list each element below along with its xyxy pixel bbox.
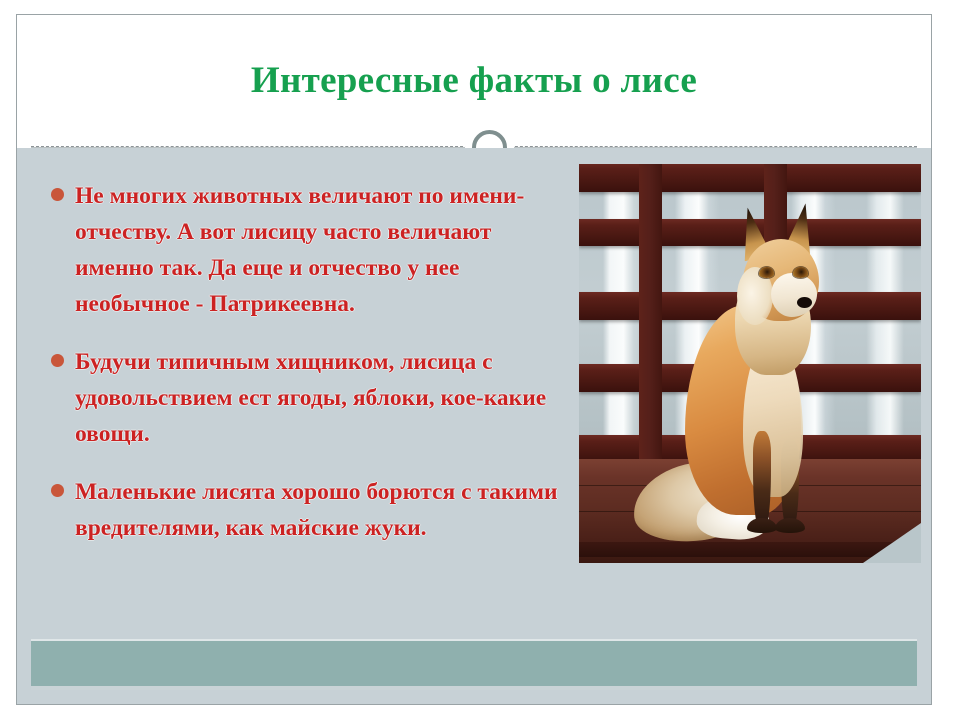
page-title: Интересные факты о лисе xyxy=(17,59,931,103)
slide-body: Не многих животных величают по имени-отч… xyxy=(17,148,931,704)
list-item-text: Будучи типичным хищником, лисица с удово… xyxy=(75,344,571,452)
list-item-text: Не многих животных величают по имени-отч… xyxy=(75,178,571,322)
list-item: Будучи типичным хищником, лисица с удово… xyxy=(51,344,571,452)
fox-eye-left xyxy=(759,267,774,278)
presentation-slide: Интересные факты о лисе Не многих животн… xyxy=(16,14,932,705)
fox-muzzle xyxy=(771,273,817,317)
fox-hind-paw xyxy=(775,518,805,533)
slide-title-band: Интересные факты о лисе xyxy=(17,15,931,146)
bullet-dot-icon xyxy=(51,188,64,201)
fox-nose xyxy=(797,297,812,308)
list-item: Не многих животных величают по имени-отч… xyxy=(51,178,571,322)
deck-edge xyxy=(579,542,921,557)
bullet-dot-icon xyxy=(51,484,64,497)
railing-board xyxy=(579,164,921,192)
footer-accent-shadow xyxy=(31,686,917,690)
fox-figure xyxy=(631,211,861,541)
fox-eye-right xyxy=(793,267,808,278)
footer-accent-bar xyxy=(31,641,917,686)
bullet-dot-icon xyxy=(51,354,64,367)
fox-photo xyxy=(579,164,921,563)
fox-front-paw xyxy=(747,518,777,533)
fact-list: Не многих животных величают по имени-отч… xyxy=(51,178,571,568)
fox-front-leg xyxy=(753,431,771,527)
list-item: Маленькие лисята хорошо борются с такими… xyxy=(51,474,571,546)
list-item-text: Маленькие лисята хорошо борются с такими… xyxy=(75,474,571,546)
